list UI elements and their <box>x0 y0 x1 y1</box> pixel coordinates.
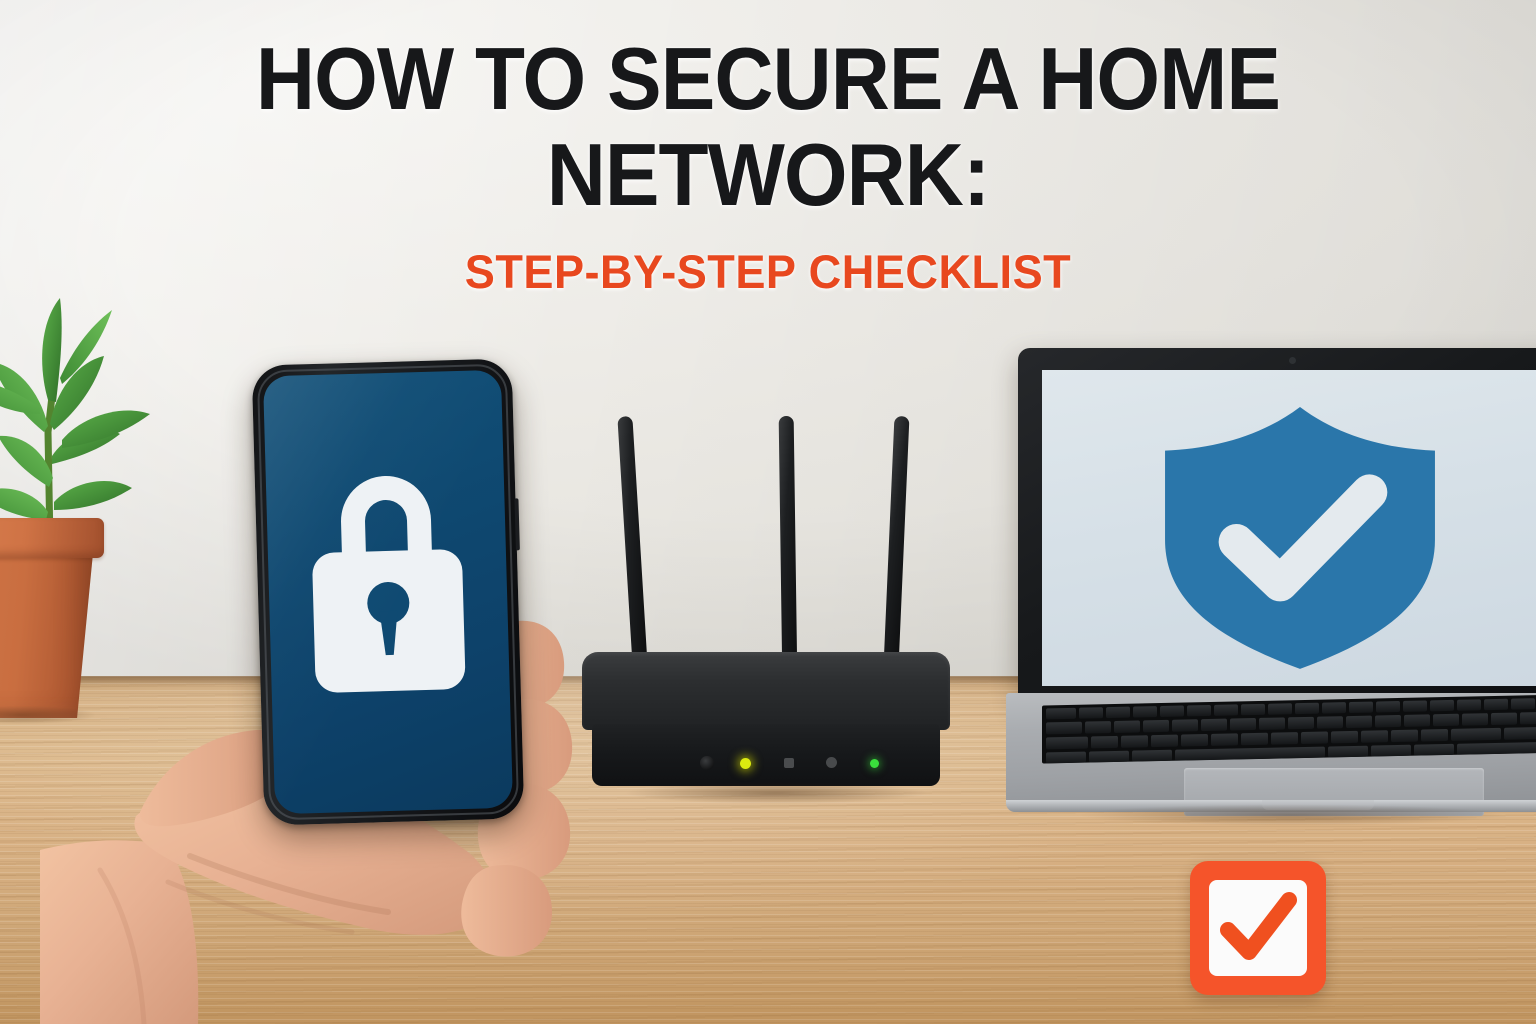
phone-screen[interactable] <box>263 370 513 814</box>
phone-screen-glare <box>263 370 513 814</box>
laptop-computer <box>1006 348 1536 824</box>
laptop-webcam-icon <box>1289 357 1296 364</box>
headline-line-2: NETWORK: <box>54 132 1482 218</box>
smartphone <box>252 358 525 825</box>
laptop-lid <box>1018 348 1536 700</box>
router-power-port-icon <box>700 756 714 770</box>
page-subtitle: STEP-BY-STEP CHECKLIST <box>31 244 1506 299</box>
headline-line-1: HOW TO SECURE A HOME <box>256 29 1280 128</box>
router-top-shell <box>582 652 950 730</box>
laptop-keyboard <box>1042 695 1536 764</box>
router-internet-led <box>870 759 879 768</box>
router-wifi-indicator-icon <box>784 758 794 768</box>
poster-image: HOW TO SECURE A HOME NETWORK: STEP-BY-ST… <box>0 0 1536 1024</box>
page-title: HOW TO SECURE A HOME NETWORK: <box>54 36 1482 218</box>
laptop-shadow <box>996 800 1536 830</box>
router-front-panel <box>592 724 940 786</box>
wifi-router <box>576 404 976 796</box>
checkmark-icon <box>1209 880 1307 976</box>
poster-title-block: HOW TO SECURE A HOME NETWORK: STEP-BY-ST… <box>0 36 1536 299</box>
router-power-led <box>740 758 751 769</box>
router-antenna-center <box>779 416 797 656</box>
shield-check-icon <box>1042 370 1536 686</box>
router-wps-indicator-icon <box>826 757 837 768</box>
checkbox-inner-fill <box>1209 880 1307 976</box>
checkbox-badge[interactable] <box>1190 861 1326 995</box>
router-antenna-left <box>617 416 647 656</box>
router-shadow <box>566 778 986 808</box>
router-antenna-right <box>884 416 909 656</box>
laptop-screen <box>1042 370 1536 686</box>
